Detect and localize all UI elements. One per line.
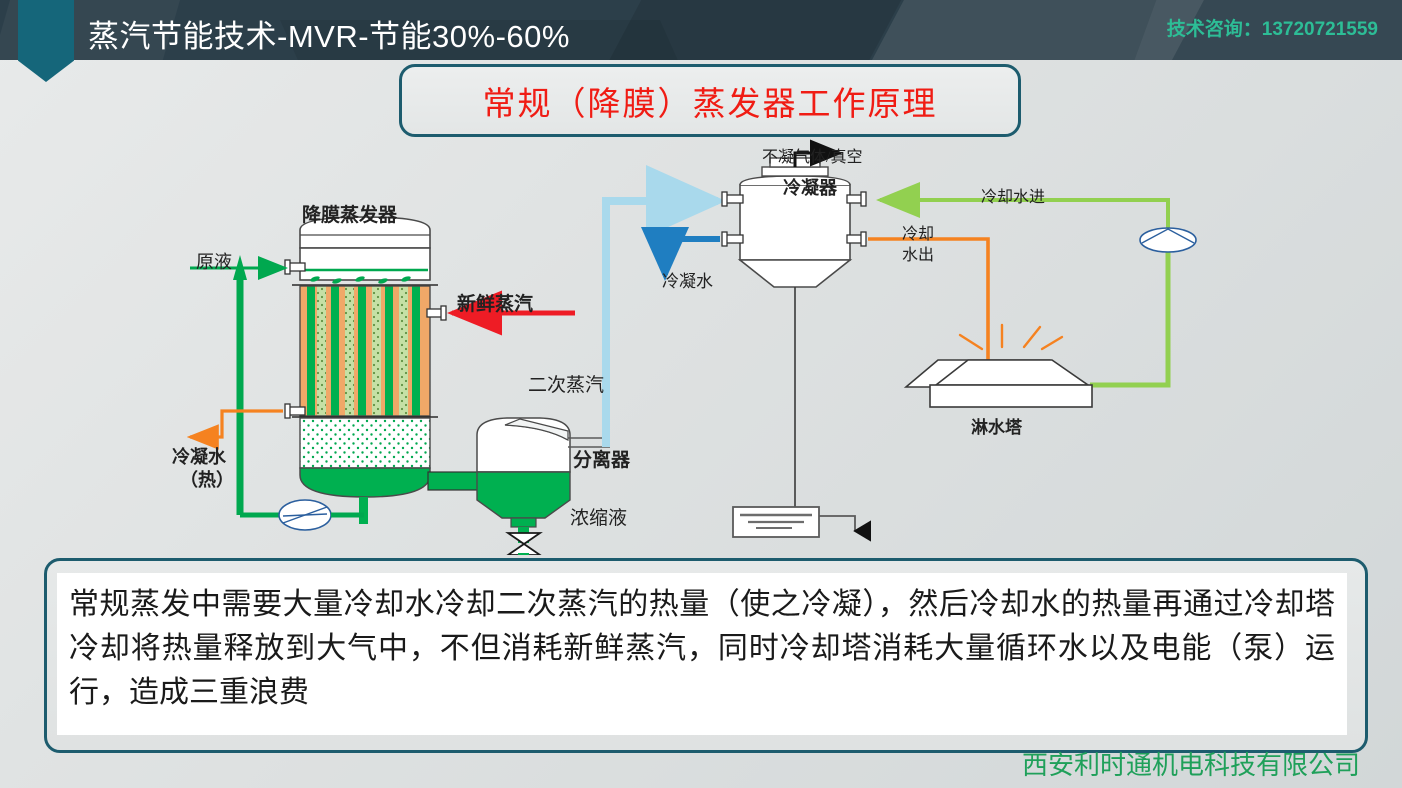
water-basin xyxy=(733,507,855,537)
cooling-tower xyxy=(906,325,1092,407)
label-separator: 分离器 xyxy=(573,445,630,472)
label-fresh-steam: 新鲜蒸汽 xyxy=(457,289,533,316)
label-noncondensable-gas: 不凝气体/真空 xyxy=(762,143,862,167)
label-feed: 原液 xyxy=(196,248,232,274)
label-cooling-tower: 淋水塔 xyxy=(971,413,1022,438)
evaporator-vessel xyxy=(292,217,438,524)
page-title: 蒸汽节能技术-MVR-节能30%-60% xyxy=(88,11,570,56)
cooling-water-pump-icon xyxy=(1140,228,1196,252)
label-evaporator: 降膜蒸发器 xyxy=(302,200,397,227)
description-inner: 常规蒸发中需要大量冷却水冷却二次蒸汽的热量（使之冷凝），然后冷却水的热量再通过冷… xyxy=(57,573,1347,735)
section-title-text: 常规（降膜）蒸发器工作原理 xyxy=(483,77,938,125)
contact-info: 技术咨询：13720721559 xyxy=(1167,14,1378,41)
section-title-box: 常规（降膜）蒸发器工作原理 xyxy=(399,64,1021,137)
condenser-vessel xyxy=(722,158,866,507)
feed-pump-icon xyxy=(279,500,364,530)
description-text: 常规蒸发中需要大量冷却水冷却二次蒸汽的热量（使之冷凝），然后冷却水的热量再通过冷… xyxy=(69,583,1335,715)
label-condenser: 冷凝器 xyxy=(783,174,837,200)
header-facet-2 xyxy=(577,0,922,60)
label-concentrate: 浓缩液 xyxy=(570,503,627,530)
pennant-shape xyxy=(18,0,74,82)
process-flow-diagram: 降膜蒸发器 原液 新鲜蒸汽 冷凝水 （热） 二次蒸汽 分离器 浓缩液 不凝气体/… xyxy=(0,135,1402,555)
label-hot-condensate-line2: （热） xyxy=(180,466,234,492)
label-cooling-water-out-line2: 水出 xyxy=(902,241,934,265)
label-secondary-steam: 二次蒸汽 xyxy=(528,370,604,397)
diagram-svg xyxy=(0,135,1402,555)
company-name: 西安利时通机电科技有限公司 xyxy=(1022,745,1360,782)
label-condensate: 冷凝水 xyxy=(662,267,713,292)
description-box: 常规蒸发中需要大量冷却水冷却二次蒸汽的热量（使之冷凝），然后冷却水的热量再通过冷… xyxy=(44,558,1368,753)
slide-root: 蒸汽节能技术-MVR-节能30%-60% 技术咨询：13720721559 常规… xyxy=(0,0,1402,788)
separator-vessel xyxy=(477,418,570,555)
label-cooling-water-in: 冷却水进 xyxy=(981,183,1045,207)
